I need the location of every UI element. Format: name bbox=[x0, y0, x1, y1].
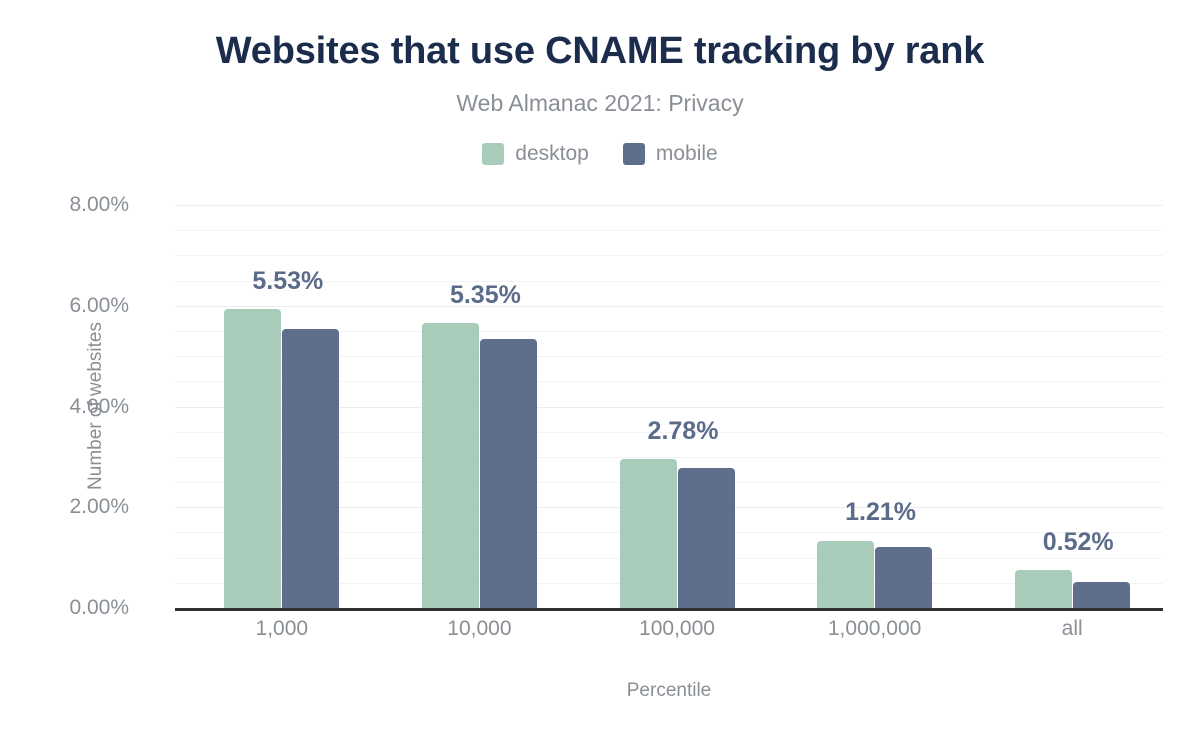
bar-desktop[interactable] bbox=[1015, 570, 1072, 608]
bar-group bbox=[620, 205, 735, 608]
bar-desktop[interactable] bbox=[620, 459, 677, 608]
legend-swatch-icon bbox=[482, 143, 504, 165]
bar-value-label: 2.78% bbox=[593, 417, 773, 446]
bar-desktop[interactable] bbox=[817, 541, 874, 609]
chart-title: Websites that use CNAME tracking by rank bbox=[0, 30, 1200, 73]
x-axis-tick-label: 1,000,000 bbox=[765, 617, 985, 641]
bar-mobile[interactable] bbox=[1073, 582, 1130, 608]
bar-mobile[interactable] bbox=[282, 329, 339, 608]
x-axis-tick-label: 1,000 bbox=[172, 617, 392, 641]
bar-value-label: 0.52% bbox=[988, 528, 1168, 557]
y-axis-tick-label: 2.00% bbox=[9, 495, 129, 519]
x-axis-tick-label: 10,000 bbox=[369, 617, 589, 641]
legend-item-desktop[interactable]: desktop bbox=[482, 142, 589, 166]
chart-legend: desktopmobile bbox=[0, 142, 1200, 166]
x-axis-baseline bbox=[175, 608, 1163, 611]
bar-desktop[interactable] bbox=[224, 309, 281, 608]
chart-container: Websites that use CNAME tracking by rank… bbox=[0, 0, 1200, 742]
legend-label: desktop bbox=[515, 142, 589, 166]
y-axis-tick-label: 8.00% bbox=[9, 193, 129, 217]
bar-group bbox=[817, 205, 932, 608]
bar-value-label: 5.53% bbox=[198, 267, 378, 296]
chart-subtitle: Web Almanac 2021: Privacy bbox=[0, 90, 1200, 117]
bar-group bbox=[224, 205, 339, 608]
y-axis-tick-label: 6.00% bbox=[9, 294, 129, 318]
x-axis-title: Percentile bbox=[175, 680, 1163, 702]
bar-mobile[interactable] bbox=[678, 468, 735, 608]
bar-value-label: 5.35% bbox=[395, 281, 575, 310]
plot-area: Number of websites Percentile 0.00%2.00%… bbox=[175, 205, 1163, 608]
bar-mobile[interactable] bbox=[480, 339, 537, 609]
x-axis-tick-label: 100,000 bbox=[567, 617, 787, 641]
bar-group bbox=[422, 205, 537, 608]
y-axis-tick-label: 4.00% bbox=[9, 395, 129, 419]
legend-label: mobile bbox=[656, 142, 718, 166]
x-axis-tick-label: all bbox=[962, 617, 1182, 641]
bar-value-label: 1.21% bbox=[791, 498, 971, 527]
bar-desktop[interactable] bbox=[422, 323, 479, 608]
y-axis-tick-label: 0.00% bbox=[9, 596, 129, 620]
bar-mobile[interactable] bbox=[875, 547, 932, 608]
legend-swatch-icon bbox=[623, 143, 645, 165]
legend-item-mobile[interactable]: mobile bbox=[623, 142, 718, 166]
